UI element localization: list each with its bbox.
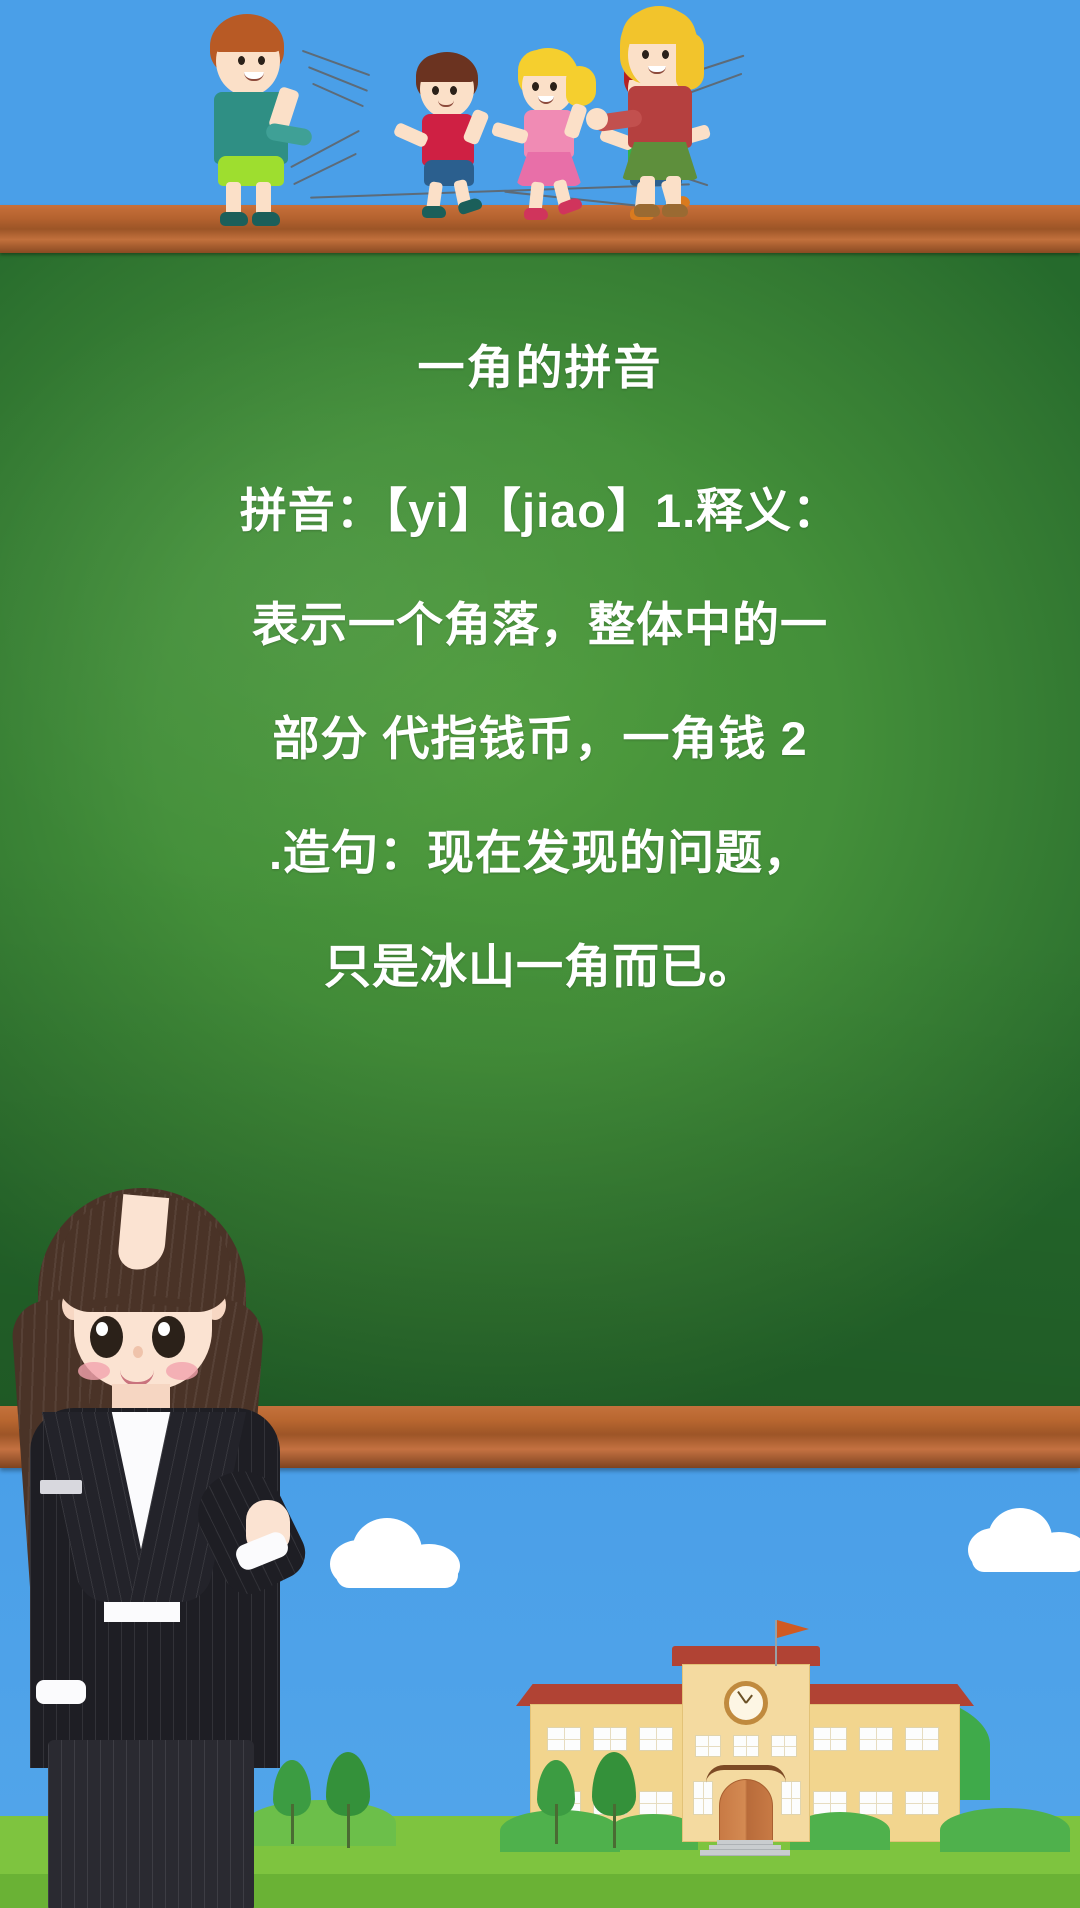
school-window xyxy=(695,1735,721,1757)
cloud-left xyxy=(330,1518,470,1588)
shoe-left xyxy=(220,212,248,226)
school-clock-tower xyxy=(682,1664,810,1842)
eye-right xyxy=(152,1316,185,1358)
school-window xyxy=(639,1727,673,1751)
school-steps xyxy=(697,1840,793,1858)
school-window xyxy=(905,1727,939,1751)
definition-line-2: 表示一个角落，整体中的一 xyxy=(110,568,970,682)
school-window xyxy=(593,1727,627,1751)
tree-3 xyxy=(536,1760,576,1846)
school-entrance-door xyxy=(719,1779,773,1841)
eye-left xyxy=(432,86,439,95)
teacher-character xyxy=(0,1140,330,1908)
shoe-left xyxy=(422,206,446,218)
eye-right xyxy=(662,50,669,59)
school-window xyxy=(905,1791,939,1815)
school-window xyxy=(547,1727,581,1751)
definition-line-5: 只是冰山一角而已。 xyxy=(110,910,970,1024)
skirt xyxy=(622,142,698,180)
skirt xyxy=(48,1740,254,1908)
school-tower-roof xyxy=(672,1646,820,1666)
shoe-left xyxy=(524,208,548,220)
eye-left xyxy=(532,82,539,91)
kid-boy-rope-turner-left xyxy=(200,14,320,214)
school-window xyxy=(859,1727,893,1751)
shoe-right xyxy=(252,212,280,226)
cloud-right xyxy=(968,1508,1080,1572)
hair-fringe xyxy=(416,54,476,82)
hair-fringe xyxy=(212,18,282,52)
tree-trunk xyxy=(555,1804,558,1844)
cheek-blush-right xyxy=(166,1362,198,1380)
tree-trunk xyxy=(613,1804,616,1848)
eye-left xyxy=(90,1316,123,1358)
shoe-left xyxy=(634,204,660,217)
school-window xyxy=(771,1735,797,1757)
school-window xyxy=(781,1781,801,1815)
school-window xyxy=(733,1735,759,1757)
eye-left xyxy=(642,50,649,59)
shoe-right xyxy=(662,204,688,217)
tree-4 xyxy=(592,1752,636,1848)
page-title: 一角的拼音 xyxy=(110,340,970,396)
nose xyxy=(133,1346,143,1358)
hair-side xyxy=(676,32,704,90)
eye-right xyxy=(258,56,265,65)
eye-right xyxy=(450,86,457,95)
clock-icon xyxy=(724,1681,768,1725)
hand xyxy=(586,108,608,130)
cheek-blush-left xyxy=(78,1362,110,1380)
eye-left xyxy=(238,56,245,65)
definition-line-4: .造句：现在发现的问题， xyxy=(110,796,970,910)
school-window xyxy=(693,1781,713,1815)
school-window xyxy=(639,1791,673,1815)
children-jumping-rope-illustration xyxy=(0,0,1080,215)
eye-right xyxy=(550,82,557,91)
bush-right-of-school xyxy=(940,1808,1070,1852)
clock-minute-hand xyxy=(737,1691,747,1704)
school-window xyxy=(859,1791,893,1815)
name-badge xyxy=(40,1480,82,1494)
flag-icon xyxy=(777,1620,809,1638)
page-root: 一角的拼音 拼音：【yi】【jiao】1.释义： 表示一个角落，整体中的一 部分… xyxy=(0,0,1080,1908)
kid-girl-rope-turner-right xyxy=(584,6,714,216)
tree-2 xyxy=(326,1752,370,1848)
tree-trunk xyxy=(347,1804,350,1848)
definition-line-3: 部分 代指钱币，一角钱 2 xyxy=(110,682,970,796)
definition-line-1: 拼音：【yi】【jiao】1.释义： xyxy=(110,454,970,568)
school-window xyxy=(813,1727,847,1751)
shirt-cuff-left xyxy=(36,1680,86,1704)
